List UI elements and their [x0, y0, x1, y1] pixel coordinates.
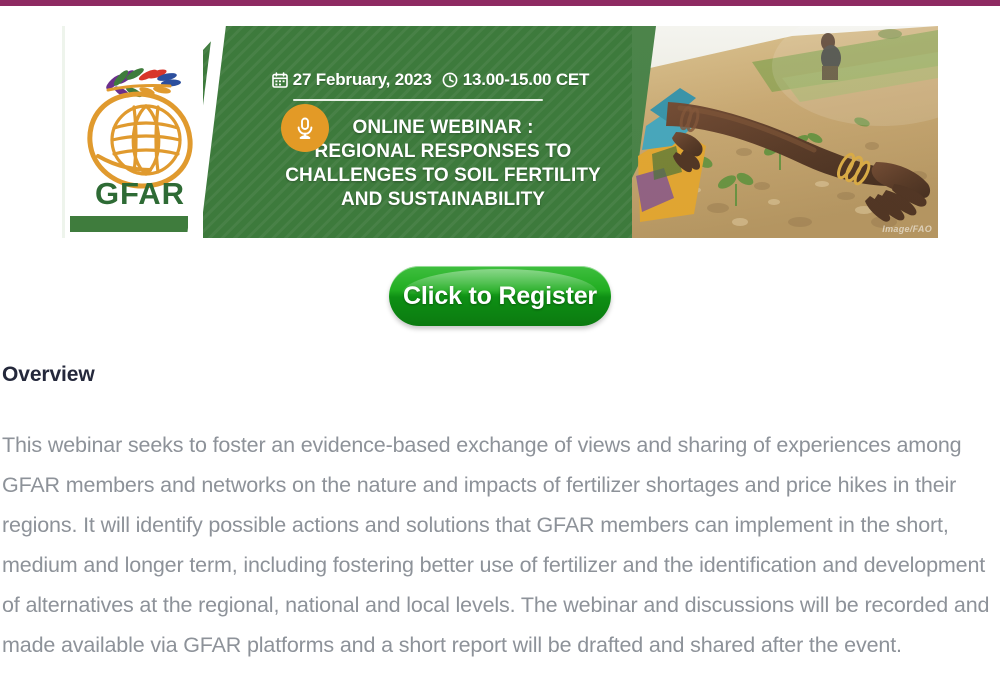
page-root: GFAR	[0, 0, 1000, 674]
microphone-icon	[281, 104, 329, 152]
banner-photo: Image/FAO	[632, 26, 938, 238]
calendar-icon	[272, 72, 288, 88]
clock-icon	[442, 72, 458, 88]
banner-content: 27 February, 2023 13.00-15.00 CET	[203, 26, 658, 238]
planting-photo-illustration	[632, 26, 938, 238]
banner-date-text: 27 February, 2023	[293, 70, 432, 90]
gfar-logo: GFAR	[76, 44, 204, 214]
photo-credit: Image/FAO	[882, 224, 932, 234]
banner-divider	[293, 99, 543, 101]
register-button-label: Click to Register	[403, 282, 597, 310]
logo-panel-green-bar	[70, 216, 188, 232]
banner-date: 27 February, 2023	[272, 70, 432, 90]
banner-time: 13.00-15.00 CET	[442, 70, 589, 90]
webinar-banner[interactable]: GFAR	[62, 26, 938, 238]
banner-title-line-4: AND SUSTAINABILITY	[243, 188, 643, 212]
logo-panel: GFAR	[62, 26, 210, 238]
gfar-wordmark: GFAR	[76, 176, 204, 212]
click-to-register-button[interactable]: Click to Register	[389, 266, 611, 326]
overview-heading: Overview	[2, 363, 95, 387]
banner-datetime-row: 27 February, 2023 13.00-15.00 CET	[203, 70, 658, 90]
banner-title-line-3: CHALLENGES TO SOIL FERTILITY	[243, 164, 643, 188]
logo-panel-edge	[62, 26, 65, 238]
overview-paragraph: This webinar seeks to foster an evidence…	[2, 425, 994, 665]
register-button-container: Click to Register	[0, 266, 1000, 326]
top-accent-band	[0, 0, 1000, 6]
banner-time-text: 13.00-15.00 CET	[463, 70, 589, 90]
